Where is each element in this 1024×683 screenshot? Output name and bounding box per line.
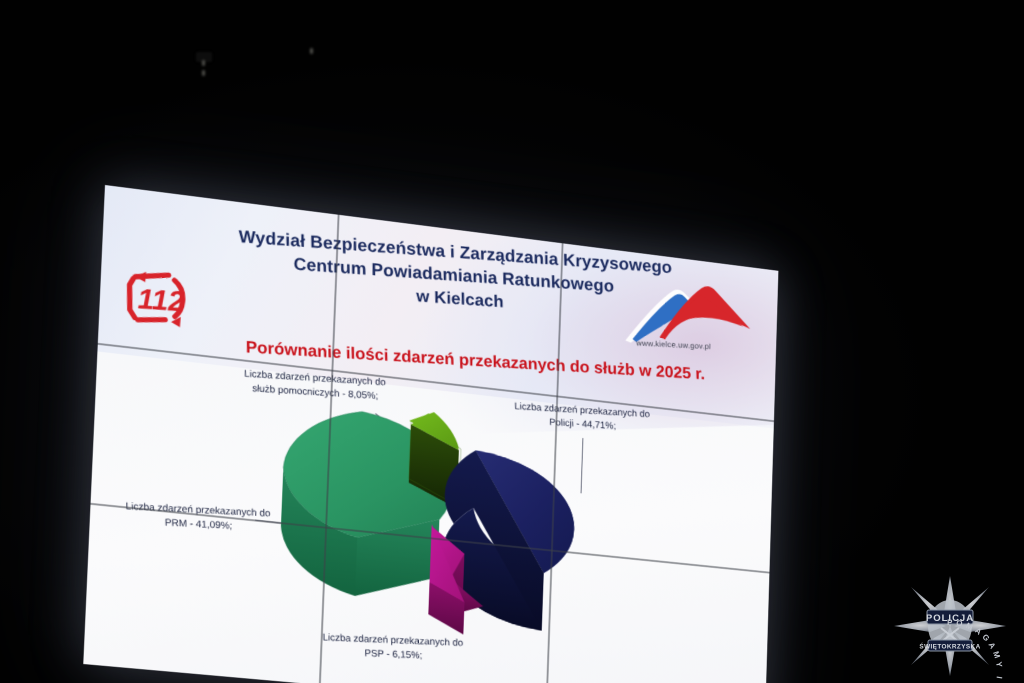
ceiling-light-dot [310, 48, 313, 54]
slide-title-line-2: Centrum Powiadamiania Ratunkowego [229, 248, 674, 302]
video-wall-wrapper: 112 www.kielce.uw.gov.pl [0, 0, 1024, 683]
ceiling-light-dot [202, 60, 205, 66]
room-ambient-glow [0, 40, 960, 680]
logo-kielce-url: www.kielce.uw.gov.pl [636, 338, 711, 351]
callout-label-line1: Liczba zdarzeń przekazanych do [126, 501, 271, 519]
pie-slice-psp [428, 524, 486, 636]
pie-slice-sluzby-pomocnicze [406, 409, 462, 508]
pie-slice-prm [278, 403, 454, 605]
slide-header-band [97, 185, 778, 428]
panel-bezel-vertical [546, 243, 564, 683]
slide-subtitle: Porównanie ilości zdarzeń przekazanych d… [185, 334, 761, 388]
video-wall-screen[interactable]: 112 www.kielce.uw.gov.pl [83, 185, 778, 683]
panel-bezel-vertical [319, 215, 340, 683]
pie-slice-policja [440, 447, 578, 633]
callout-label-line2: służb pomocniczych - 8,05%; [214, 380, 415, 406]
slide-title-line-3: w Kielcach [237, 272, 675, 324]
leader-line-sluzby [375, 413, 404, 437]
callout-label-line1: Liczba zdarzeń przekazanych do [514, 402, 650, 420]
panel-bezel-horizontal [90, 503, 769, 574]
callout-prm: Liczba zdarzeń przekazanych do PRM - 41,… [100, 499, 296, 537]
presentation-slide: 112 www.kielce.uw.gov.pl [83, 185, 778, 683]
header-decorative-swoosh [412, 198, 779, 435]
panel-bezel-horizontal [98, 343, 774, 422]
logo-112-icon: 112 [116, 259, 201, 337]
svg-text:112: 112 [137, 284, 184, 319]
leader-line-prm [255, 520, 327, 529]
callout-policja: Liczba zdarzeń przekazanych do Policji -… [484, 399, 681, 438]
police-watermark: POLICJA ŚWIĘTOKRZYSKA POMAGAMY I CHRONIM… [886, 569, 1014, 679]
callout-label-line2: PRM - 41,09%; [100, 513, 295, 537]
logo-kielce-uw-icon: www.kielce.uw.gov.pl [608, 268, 762, 373]
slide-title-line-1: Wydział Bezpieczeństwa i Zarządzania Kry… [237, 225, 674, 279]
leader-line-policja [581, 438, 584, 493]
floor-vent-grille [366, 627, 664, 673]
video-wall[interactable]: 112 www.kielce.uw.gov.pl [83, 185, 778, 683]
callout-label-line2: Policji - 44,71%; [484, 413, 680, 438]
callout-sluzby-pomocnicze: Liczba zdarzeń przekazanych do służb pom… [214, 366, 415, 406]
slide-title: Wydział Bezpieczeństwa i Zarządzania Kry… [237, 225, 675, 324]
ceiling-light-dot [202, 70, 205, 76]
watermark-banner-bottom-text: ŚWIĘTOKRZYSKA [919, 642, 980, 651]
callout-label-line1: Liczba zdarzeń przekazanych do [244, 369, 386, 388]
photo-scene: 112 www.kielce.uw.gov.pl [0, 0, 1024, 683]
